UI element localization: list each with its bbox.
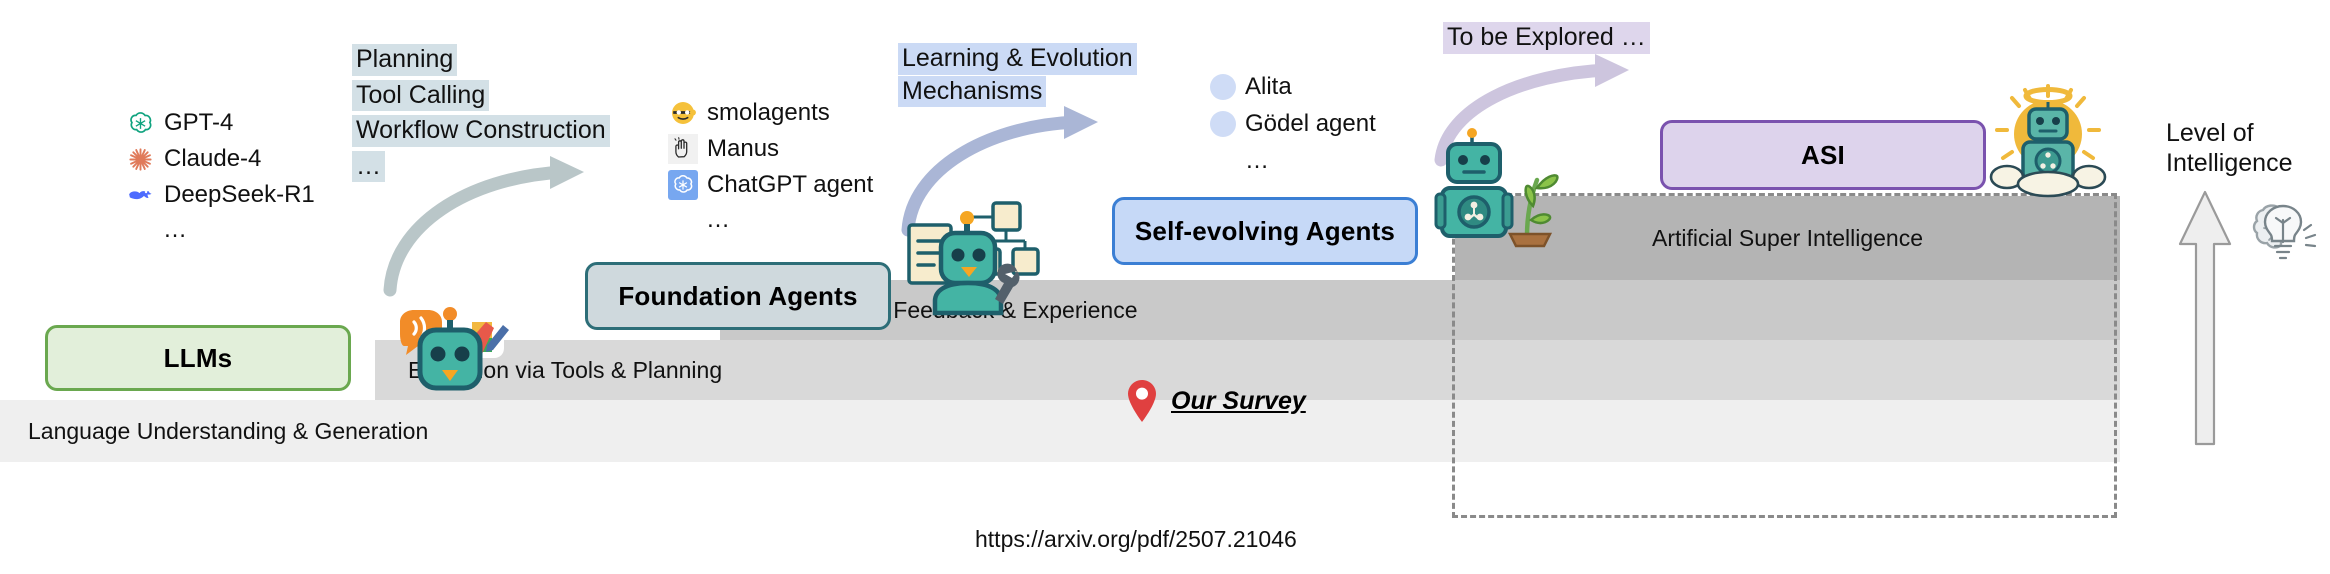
llm-chat-robot-icon <box>390 300 510 408</box>
our-survey-marker[interactable]: Our Survey <box>1125 378 1306 424</box>
list-item: Alita <box>1210 73 1376 101</box>
explore-caption: To be Explored … <box>1443 22 1650 54</box>
evolution-caption: Learning & Evolution Mechanisms <box>898 43 1137 107</box>
list-item: Manus <box>668 134 873 164</box>
our-survey-label: Our Survey <box>1171 387 1306 416</box>
stage-box-asi-label: ASI <box>1801 140 1845 171</box>
explore-caption-line-1: To be Explored … <box>1443 22 1650 54</box>
intelligence-up-arrow-icon <box>2174 188 2236 448</box>
asi-angelic-robot-icon <box>1985 78 2111 196</box>
foundation-agent-robot-icon <box>905 195 1037 317</box>
list-item-label: ChatGPT agent <box>707 171 873 199</box>
footer-url: https://arxiv.org/pdf/2507.21046 <box>975 526 1297 553</box>
stage-box-foundation-agents[interactable]: Foundation Agents <box>585 262 891 330</box>
capability-item-workflow: Workflow Construction <box>352 115 610 147</box>
openai-logo-icon <box>125 108 155 138</box>
stage-box-llms-label: LLMs <box>164 343 233 374</box>
level-of-intelligence-label: Level of Intelligence <box>2166 118 2292 178</box>
level-label-line-2: Intelligence <box>2166 148 2292 178</box>
capability-item-tool-calling: Tool Calling <box>352 80 489 112</box>
location-pin-icon <box>1125 378 1159 424</box>
deepseek-whale-icon <box>125 180 155 210</box>
list-item-label: smolagents <box>707 99 830 127</box>
level-label-line-1: Level of <box>2166 118 2292 148</box>
anthropic-burst-icon <box>125 144 155 174</box>
list-item-label: Gödel agent <box>1245 110 1376 138</box>
self-evolving-list: Alita Gödel agent … <box>1210 73 1376 175</box>
blue-circle-bullet-icon <box>1210 111 1236 137</box>
capability-item-planning: Planning <box>352 44 457 76</box>
evolution-caption-line-2: Mechanisms <box>898 76 1046 108</box>
stage-box-self-evolving-agents-label: Self-evolving Agents <box>1135 216 1395 247</box>
manus-hand-icon <box>668 134 698 164</box>
list-item-label: Manus <box>707 135 779 163</box>
model-list: GPT-4 Claude-4 <box>125 108 315 244</box>
agent-list-ellipsis: … <box>706 206 873 234</box>
brain-lightbulb-icon <box>2246 198 2320 268</box>
list-item: GPT-4 <box>125 108 315 138</box>
list-item-label: Alita <box>1245 73 1292 101</box>
figure-canvas: Language Understanding & Generation Exec… <box>0 0 2330 574</box>
band-asi-label: Artificial Super Intelligence <box>1652 225 1923 252</box>
stage-box-foundation-agents-label: Foundation Agents <box>618 281 857 312</box>
band-language-label: Language Understanding & Generation <box>28 418 428 445</box>
band-language: Language Understanding & Generation <box>0 400 2120 462</box>
list-item: smolagents <box>668 98 873 128</box>
model-list-ellipsis: … <box>163 216 315 244</box>
stage-box-self-evolving-agents[interactable]: Self-evolving Agents <box>1112 197 1418 265</box>
self-evolving-list-ellipsis: … <box>1245 147 1376 175</box>
stage-box-asi[interactable]: ASI <box>1660 120 1986 190</box>
list-item: DeepSeek-R1 <box>125 180 315 210</box>
agent-list: smolagents Manus ChatGPT agent <box>668 98 873 234</box>
blue-circle-bullet-icon <box>1210 74 1236 100</box>
list-item-label: GPT-4 <box>164 109 233 137</box>
list-item-label: DeepSeek-R1 <box>164 181 315 209</box>
smolagents-emoji-icon <box>668 98 698 128</box>
evolution-caption-line-1: Learning & Evolution <box>898 43 1137 75</box>
self-evolving-robot-plant-icon <box>1432 130 1558 250</box>
stage-box-llms[interactable]: LLMs <box>45 325 351 391</box>
list-item: Gödel agent <box>1210 110 1376 138</box>
list-item-label: Claude-4 <box>164 145 261 173</box>
openai-blue-logo-icon <box>668 170 698 200</box>
list-item: Claude-4 <box>125 144 315 174</box>
list-item: ChatGPT agent <box>668 170 873 200</box>
